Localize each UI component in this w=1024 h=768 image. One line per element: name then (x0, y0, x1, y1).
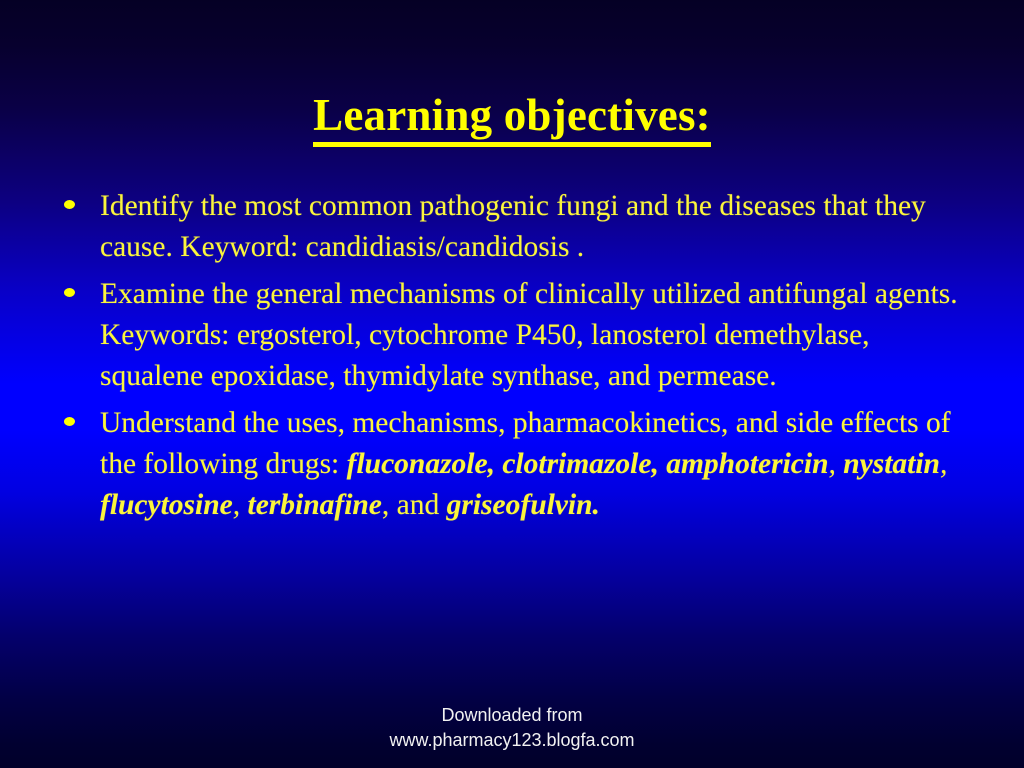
slide-footer: Downloaded from www.pharmacy123.blogfa.c… (0, 703, 1024, 753)
text-run-drug: griseofulvin. (447, 489, 600, 521)
text-run-plain: Identify the most common pathogenic fung… (100, 190, 926, 263)
text-run-drug: fluconazole, clotrimazole, amphotericin (347, 448, 829, 480)
bullet-dot-icon (64, 288, 75, 297)
presentation-slide: Learning objectives: Identify the most c… (0, 0, 1024, 768)
slide-title-container: Learning objectives: (0, 62, 1024, 178)
text-run-sep-ital: , (828, 448, 843, 480)
list-item: Examine the general mechanisms of clinic… (58, 274, 970, 397)
text-run-plain: Examine the general mechanisms of clinic… (100, 278, 958, 392)
text-run-drug: nystatin (843, 448, 940, 480)
list-item: Understand the uses, mechanisms, pharmac… (58, 403, 970, 526)
bullet-dot-icon (64, 417, 75, 426)
text-run-drug: flucytosine (100, 489, 233, 521)
text-run-sep-ital: , (940, 448, 947, 480)
footer-line-downloaded-from: Downloaded from (0, 703, 1024, 728)
text-run-plain: , and (382, 489, 447, 521)
text-run-sep-ital: , (233, 489, 248, 521)
footer-line-source-url: www.pharmacy123.blogfa.com (0, 728, 1024, 753)
bullet-dot-icon (64, 200, 75, 209)
bullet-text-objective-2: Examine the general mechanisms of clinic… (100, 274, 970, 397)
bullet-text-objective-3: Understand the uses, mechanisms, pharmac… (100, 403, 970, 526)
list-item: Identify the most common pathogenic fung… (58, 186, 970, 268)
bullet-text-objective-1: Identify the most common pathogenic fung… (100, 186, 970, 268)
page-title: Learning objectives: (313, 92, 711, 147)
text-run-drug: terbinafine (248, 489, 382, 521)
bullet-list: Identify the most common pathogenic fung… (58, 186, 970, 532)
